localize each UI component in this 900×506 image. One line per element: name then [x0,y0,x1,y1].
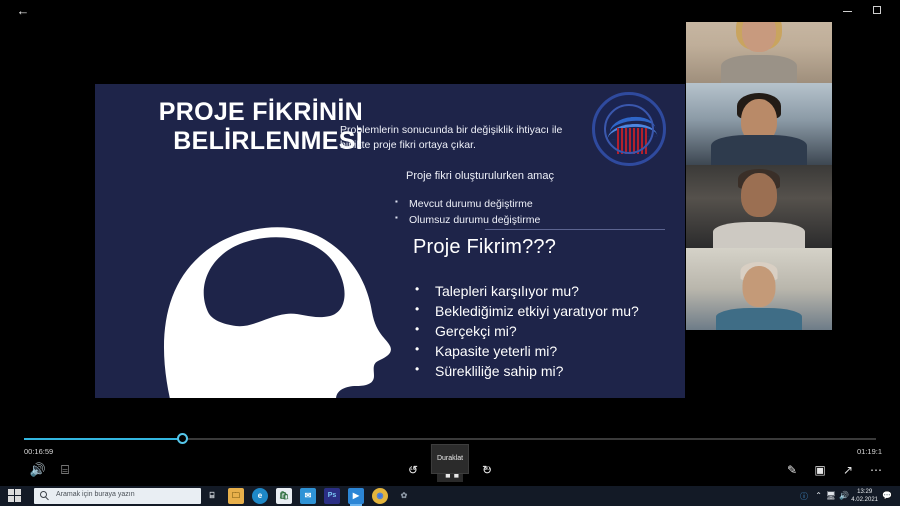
media-player-window: ← PROJE FİKRİNİN BELİRLENMESİ Problemler… [0,0,900,506]
forward-30-button[interactable]: ↻ 30 [475,458,499,482]
elapsed-time: 00:16:59 [24,447,53,456]
university-emblem-icon [592,92,666,166]
app-icon[interactable]: ✿ [396,488,412,504]
photoshop-icon[interactable]: Ps [324,488,340,504]
restore-button[interactable] [864,2,890,20]
list-item: Gerçekçi mi? [413,322,639,342]
chrome-icon[interactable]: ◉ [372,488,388,504]
player-controls: 00:16:59 01:19:1 🔊 ⌸ ↺ 10 Duraklat ▐▐ ↻ … [0,428,900,486]
clock-time: 13:29 [851,488,878,496]
total-duration: 01:19:1 [857,447,882,456]
start-button-icon[interactable] [8,489,22,503]
slide-paragraph: Problemlerin sonucunda bir değişiklik ih… [340,123,590,153]
fullscreen-icon[interactable]: ↗ [836,458,860,482]
seek-progress [24,438,182,440]
minimize-button[interactable] [834,2,860,20]
edge-icon[interactable]: e [252,488,268,504]
clock[interactable]: 13:29 4.02.2021 [851,488,878,504]
file-explorer-icon[interactable]: 🗀 [228,488,244,504]
movies-tv-icon[interactable]: ▶ [348,488,364,504]
pause-tooltip: Duraklat [431,444,469,474]
search-input[interactable]: Aramak için buraya yazın [34,488,201,504]
windows-taskbar: Aramak için buraya yazın ⌸ 🗀 e 🛍 ✉ Ps ▶ … [0,486,900,506]
clock-date: 4.02.2021 [851,496,878,504]
forward-seconds-label: 30 [484,457,490,481]
video-stage[interactable]: PROJE FİKRİNİN BELİRLENMESİ Problemlerin… [0,0,900,428]
purpose-heading: Proje fikri oluşturulurken amaç [340,170,620,182]
window-titlebar: ← [0,0,900,22]
list-item: Mevcut durumu değiştirme [395,197,540,213]
participant-tiles [686,0,832,330]
slide-title: PROJE FİKRİNİN BELİRLENMESİ [113,98,363,157]
network-icon[interactable]: 🖥 [826,491,836,500]
list-item: Sürekliliğe sahip mi? [413,362,639,382]
microsoft-store-icon[interactable]: 🛍 [276,488,292,504]
chevron-up-icon[interactable]: ⌃ [815,491,822,500]
list-item: Kapasite yeterli mi? [413,342,639,362]
head-brain-illustration [140,194,410,398]
notification-icon[interactable]: 💬 [882,491,892,500]
pause-button[interactable]: Duraklat ▐▐ [437,458,463,482]
volume-tray-icon[interactable]: 🔊 [839,491,849,500]
participant-tile-2[interactable] [686,83,832,166]
search-icon [40,491,47,498]
presentation-slide: PROJE FİKRİNİN BELİRLENMESİ Problemlerin… [95,84,685,398]
volume-icon[interactable]: 🔊 [28,461,48,479]
mini-player-icon[interactable]: ▣ [808,458,832,482]
mail-icon[interactable]: ✉ [300,488,316,504]
rewind-seconds-label: 10 [410,457,416,481]
search-placeholder: Aramak için buraya yazın [56,491,135,498]
list-item: Talepleri karşılıyor mu? [413,282,639,302]
task-view-icon[interactable]: ⌸ [204,488,220,504]
question-list: Talepleri karşılıyor mu? Beklediğimiz et… [413,282,639,381]
divider [485,229,665,230]
list-item: Olumsuz durumu değiştirme [395,213,540,229]
back-button[interactable]: ← [12,2,34,20]
rewind-10-button[interactable]: ↺ 10 [401,458,425,482]
seek-handle[interactable] [177,433,188,444]
list-item: Beklediğimiz etkiyi yaratıyor mu? [413,302,639,322]
slide-title-line2: BELİRLENMESİ [113,127,363,156]
seek-bar[interactable] [24,438,876,440]
playback-buttons: ↺ 10 Duraklat ▐▐ ↻ 30 [395,458,505,482]
secondary-controls: ✎ ▣ ↗ ⋯ [780,458,890,482]
captions-icon[interactable]: ⌸ [55,461,75,479]
participant-tile-3[interactable] [686,165,832,248]
slide-title-line1: PROJE FİKRİNİN [159,98,363,126]
action-center-icon[interactable]: ⓘ [800,491,808,502]
purpose-list: Mevcut durumu değiştirme Olumsuz durumu … [395,197,540,229]
more-options-icon[interactable]: ⋯ [864,458,888,482]
edit-icon[interactable]: ✎ [780,458,804,482]
question-heading: Proje Fikrim??? [413,236,556,259]
participant-tile-4[interactable] [686,248,832,331]
